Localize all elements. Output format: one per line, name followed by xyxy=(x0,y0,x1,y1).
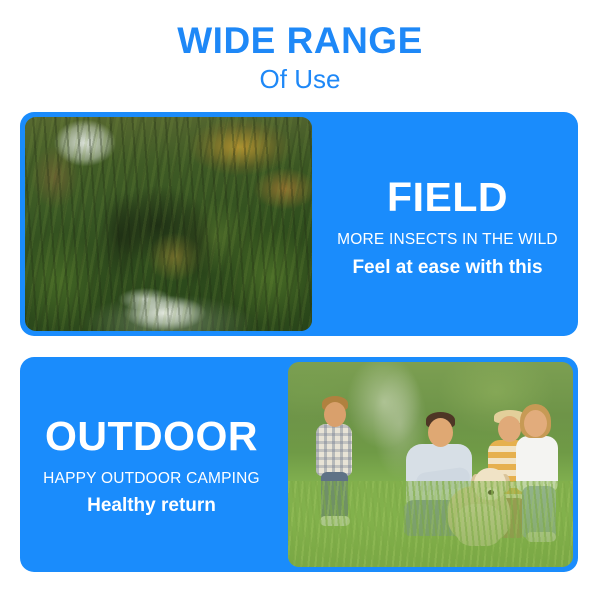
dog-body xyxy=(448,486,510,542)
dog-nose xyxy=(488,490,494,495)
outdoor-subline-1: HAPPY OUTDOOR CAMPING xyxy=(43,470,260,489)
man-legs xyxy=(404,500,464,536)
outdoor-text-pane: OUTDOOR HAPPY OUTDOOR CAMPING Healthy re… xyxy=(20,357,283,572)
man-head xyxy=(428,418,453,447)
field-subline-1: MORE INSECTS IN THE WILD xyxy=(337,231,558,250)
dog-head xyxy=(474,468,506,500)
woman-legs xyxy=(494,498,526,538)
card-field: FIELD MORE INSECTS IN THE WILD Feel at e… xyxy=(20,112,578,336)
field-photo xyxy=(25,117,312,331)
outdoor-photo xyxy=(288,362,573,567)
outdoor-subline-2: Healthy return xyxy=(87,495,216,518)
boy-legs xyxy=(321,472,348,520)
page-subtitle: Of Use xyxy=(0,65,600,95)
outdoor-heading: OUTDOOR xyxy=(45,415,258,458)
dog-snout xyxy=(484,488,498,500)
card-outdoor: OUTDOOR HAPPY OUTDOOR CAMPING Healthy re… xyxy=(20,357,578,572)
dog-chest xyxy=(456,504,502,546)
woman-head xyxy=(498,416,521,442)
family-with-dog-image xyxy=(288,362,573,567)
page-header: WIDE RANGE Of Use xyxy=(0,22,600,95)
boy-shoes xyxy=(320,516,350,526)
infographic-page: WIDE RANGE Of Use FIELD MORE INSECTS IN … xyxy=(0,0,600,600)
field-heading: FIELD xyxy=(387,176,508,219)
boy-shirt-pattern xyxy=(316,424,352,476)
field-subline-2: Feel at ease with this xyxy=(352,257,542,280)
girl-head xyxy=(524,410,547,437)
girl-shoes xyxy=(526,532,556,542)
page-title: WIDE RANGE xyxy=(0,22,600,61)
girl-torso xyxy=(516,436,558,492)
girl-legs xyxy=(522,486,556,538)
boy-head xyxy=(324,402,346,427)
field-text-pane: FIELD MORE INSECTS IN THE WILD Feel at e… xyxy=(317,112,578,336)
forest-gorge-image xyxy=(25,117,312,331)
